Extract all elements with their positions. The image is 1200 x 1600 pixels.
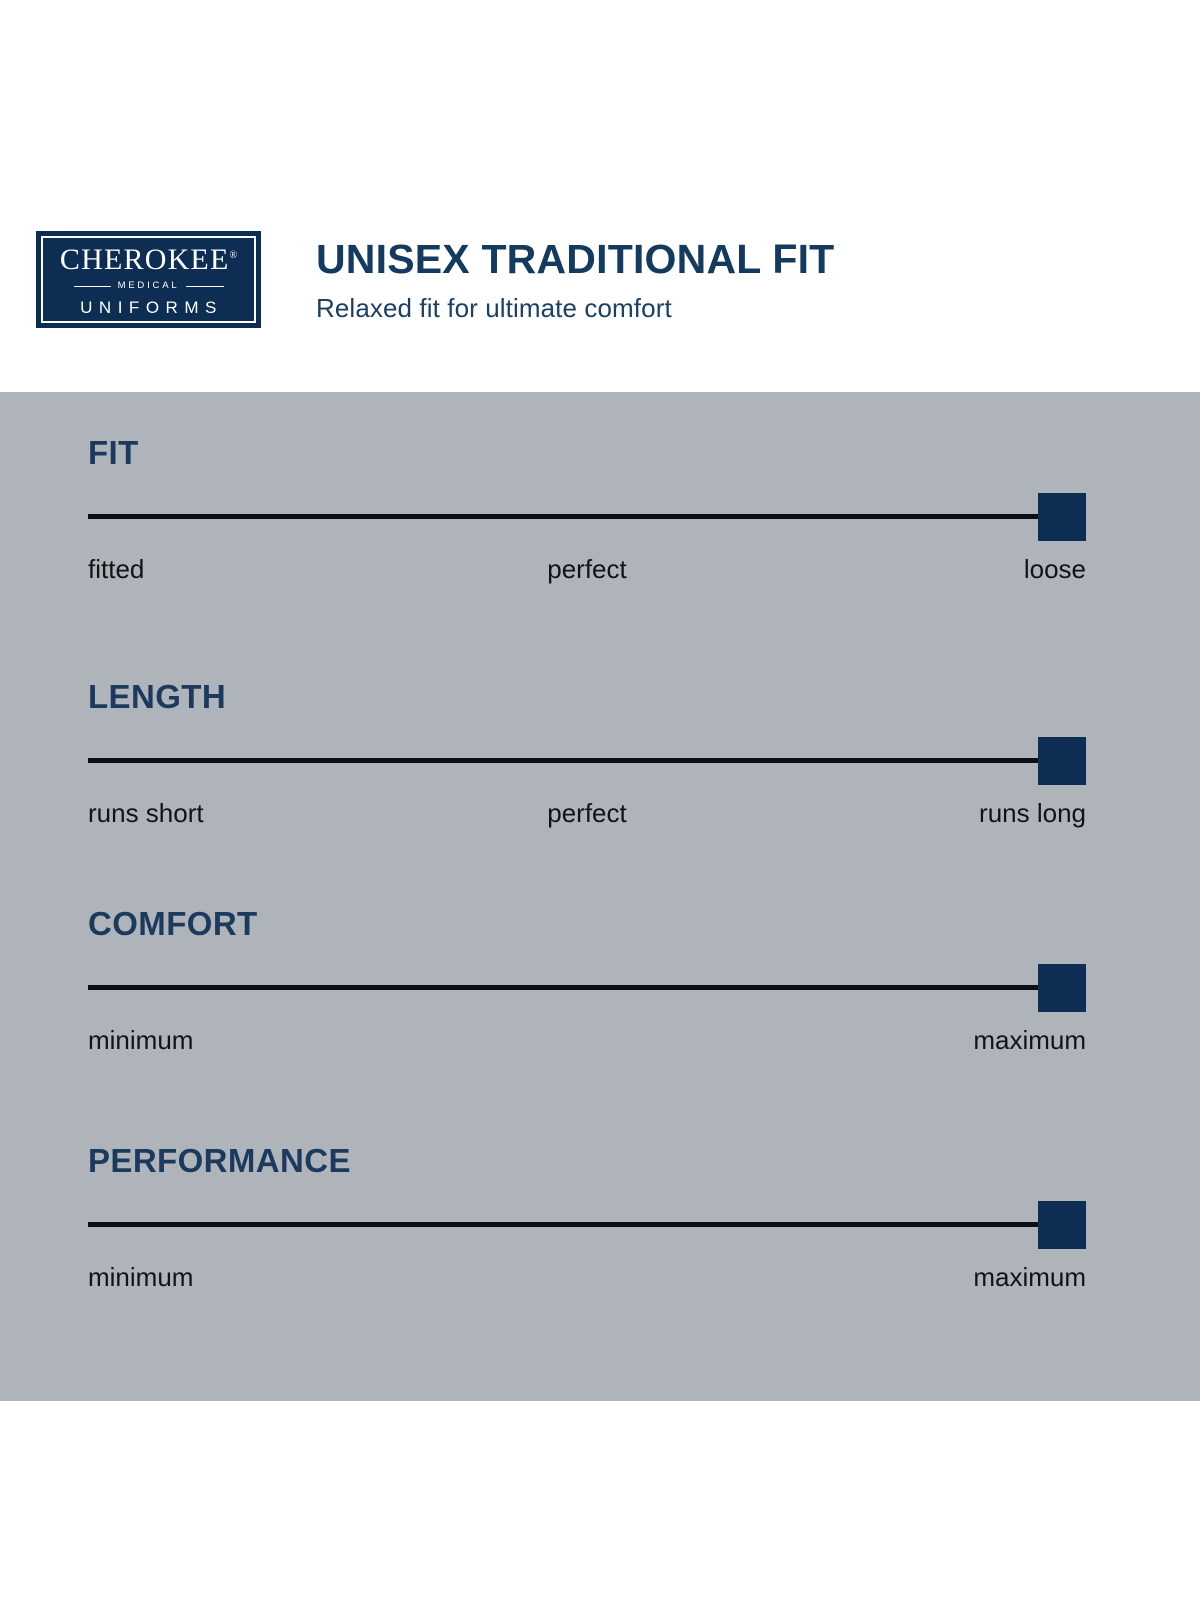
logo-medical-text: MEDICAL bbox=[118, 281, 180, 291]
logo-rule-left-icon bbox=[74, 286, 111, 287]
scale-label-comfort-right: maximum bbox=[973, 1026, 1086, 1056]
metric-performance: PERFORMANCE minimum maximum bbox=[88, 1144, 1086, 1297]
logo-uniforms-text: UNIFORMS bbox=[74, 299, 223, 316]
scale-label-fit-left: fitted bbox=[88, 555, 144, 585]
scale-line-length bbox=[88, 758, 1086, 763]
logo-medical-row: MEDICAL bbox=[74, 281, 224, 291]
scale-track-length[interactable] bbox=[88, 737, 1086, 785]
scale-labels-comfort: minimum maximum bbox=[88, 1026, 1086, 1060]
fit-guide-page: CHEROKEE® MEDICAL UNIFORMS UNISEX TRADIT… bbox=[0, 0, 1200, 1600]
scale-track-comfort[interactable] bbox=[88, 964, 1086, 1012]
logo-inner-frame: CHEROKEE® MEDICAL UNIFORMS bbox=[41, 236, 256, 323]
scale-marker-fit[interactable] bbox=[1038, 493, 1086, 541]
scale-label-length-mid: perfect bbox=[547, 799, 627, 829]
scale-label-length-left: runs short bbox=[88, 799, 204, 829]
scale-track-performance[interactable] bbox=[88, 1201, 1086, 1249]
scale-label-performance-left: minimum bbox=[88, 1263, 193, 1293]
logo-rule-right-icon bbox=[186, 286, 223, 287]
title-block: UNISEX TRADITIONAL FIT Relaxed fit for u… bbox=[316, 238, 834, 324]
metric-heading-length: LENGTH bbox=[88, 680, 1086, 713]
scale-labels-fit: fitted perfect loose bbox=[88, 555, 1086, 589]
scale-marker-length[interactable] bbox=[1038, 737, 1086, 785]
page-subtitle: Relaxed fit for ultimate comfort bbox=[316, 293, 834, 324]
scale-line-comfort bbox=[88, 985, 1086, 990]
scale-label-comfort-left: minimum bbox=[88, 1026, 193, 1056]
scale-labels-performance: minimum maximum bbox=[88, 1263, 1086, 1297]
scale-line-performance bbox=[88, 1222, 1086, 1227]
metric-heading-fit: FIT bbox=[88, 436, 1086, 469]
cherokee-logo: CHEROKEE® MEDICAL UNIFORMS bbox=[36, 231, 261, 328]
metric-heading-comfort: COMFORT bbox=[88, 907, 1086, 940]
page-title: UNISEX TRADITIONAL FIT bbox=[316, 238, 834, 281]
scale-label-performance-right: maximum bbox=[973, 1263, 1086, 1293]
scale-labels-length: runs short perfect runs long bbox=[88, 799, 1086, 833]
scale-marker-performance[interactable] bbox=[1038, 1201, 1086, 1249]
metric-heading-performance: PERFORMANCE bbox=[88, 1144, 1086, 1177]
scale-label-length-right: runs long bbox=[979, 799, 1086, 829]
scale-label-fit-right: loose bbox=[1024, 555, 1086, 585]
metric-fit: FIT fitted perfect loose bbox=[88, 436, 1086, 589]
logo-brand-name: CHEROKEE® bbox=[60, 245, 237, 275]
metric-length: LENGTH runs short perfect runs long bbox=[88, 680, 1086, 833]
scale-line-fit bbox=[88, 514, 1086, 519]
page-header: CHEROKEE® MEDICAL UNIFORMS UNISEX TRADIT… bbox=[0, 0, 1200, 392]
fit-scales-panel: FIT fitted perfect loose LENGTH runs sho… bbox=[0, 392, 1200, 1401]
logo-brand-text: CHEROKEE bbox=[60, 243, 230, 276]
scale-track-fit[interactable] bbox=[88, 493, 1086, 541]
metric-comfort: COMFORT minimum maximum bbox=[88, 907, 1086, 1060]
registered-trademark-icon: ® bbox=[229, 250, 237, 261]
scale-marker-comfort[interactable] bbox=[1038, 964, 1086, 1012]
scale-label-fit-mid: perfect bbox=[547, 555, 627, 585]
